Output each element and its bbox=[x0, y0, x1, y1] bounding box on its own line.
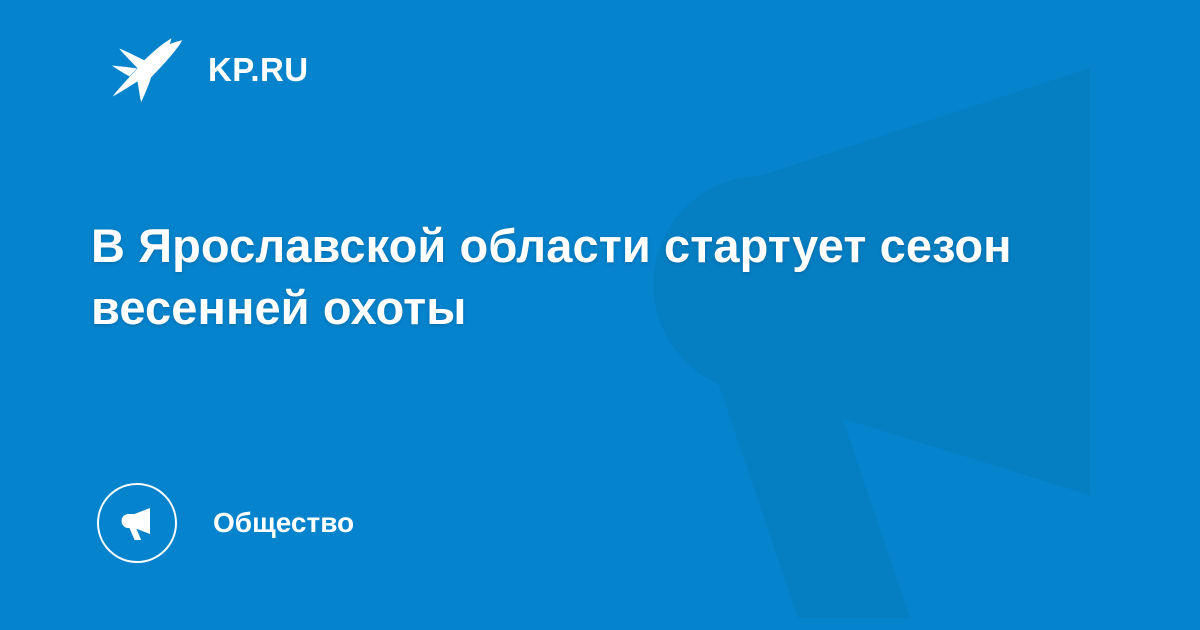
social-share-card: KP.RU В Ярославской области стартует сез… bbox=[0, 0, 1200, 630]
megaphone-icon bbox=[115, 501, 159, 545]
swallow-bird-logo-icon bbox=[108, 35, 182, 103]
brand-name: KP.RU bbox=[208, 53, 308, 86]
page-title: В Ярославской области стартует сезон вес… bbox=[91, 215, 1051, 339]
category-badge[interactable]: Общество bbox=[97, 482, 354, 564]
category-icon-circle bbox=[97, 483, 177, 563]
brand-header[interactable]: KP.RU bbox=[108, 33, 308, 105]
category-label: Общество bbox=[213, 509, 354, 537]
